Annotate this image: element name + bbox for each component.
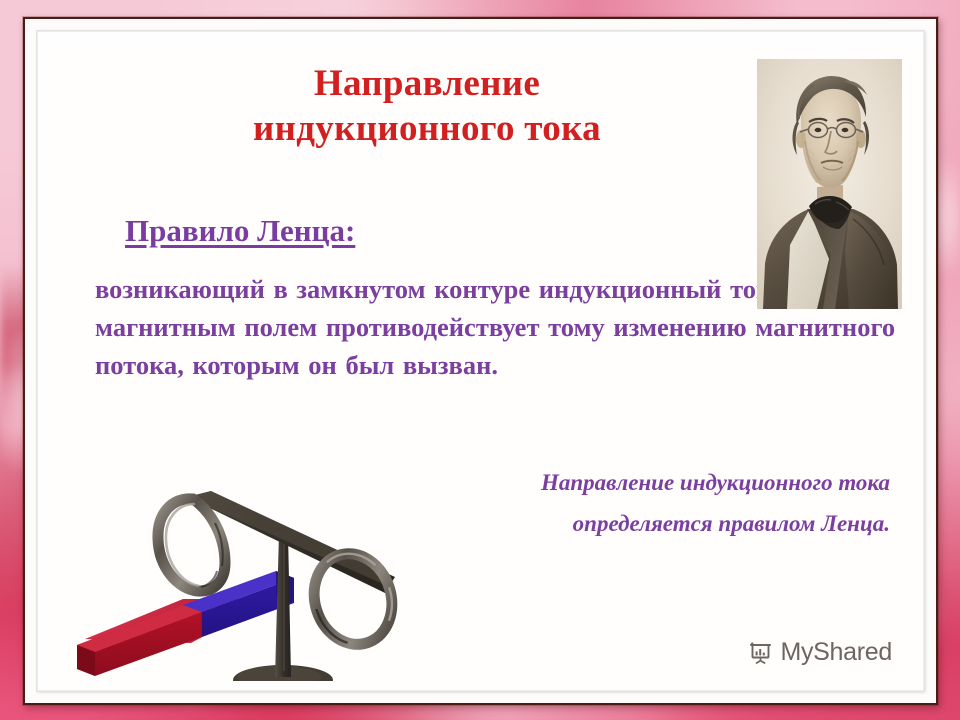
- lenz-portrait: [757, 59, 902, 309]
- watermark-label: MyShared: [780, 638, 892, 667]
- myshared-watermark: MyShared: [748, 638, 892, 667]
- slide-frame: Направление индукционного тока Правило Л…: [23, 17, 938, 705]
- slide-frame-inner-bevel: Направление индукционного тока Правило Л…: [37, 31, 924, 691]
- note-text: Направление индукционного тока определяе…: [420, 463, 890, 545]
- magnet-and-ring-stand-illustration: [65, 471, 415, 681]
- presentation-board-icon: [748, 640, 774, 666]
- page-title: Направление индукционного тока: [47, 63, 807, 150]
- slide-content-area: Направление индукционного тока Правило Л…: [47, 41, 914, 681]
- page-title-line-2: индукционного тока: [47, 108, 807, 151]
- page-title-line-1: Направление: [47, 63, 807, 106]
- rule-heading: Правило Ленца:: [125, 213, 355, 249]
- slide-canvas: Направление индукционного тока Правило Л…: [0, 0, 960, 720]
